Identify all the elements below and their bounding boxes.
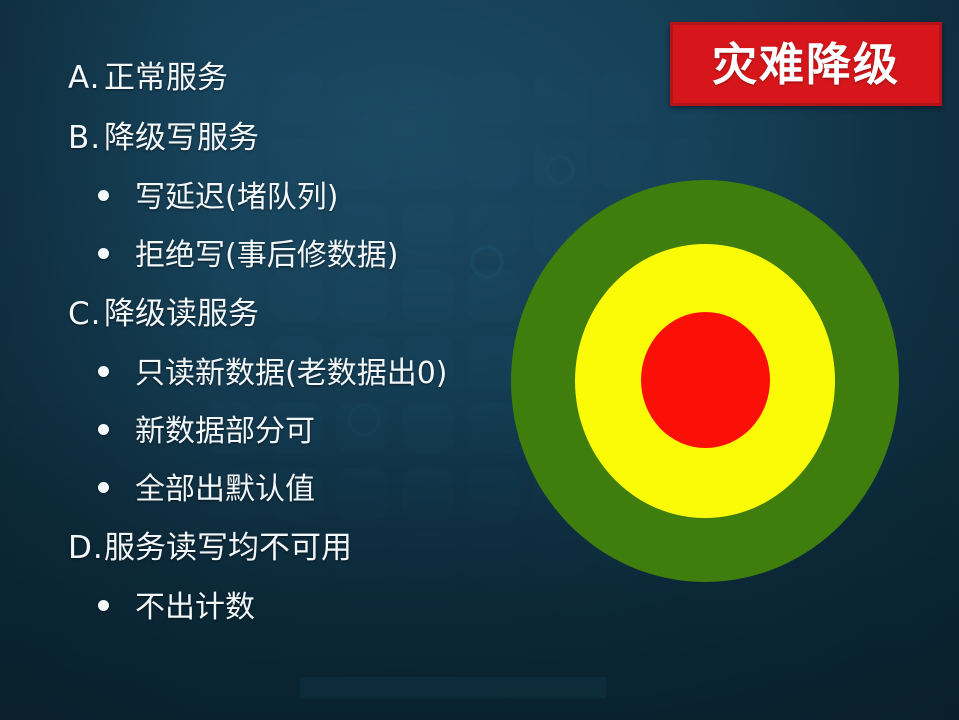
- bullet-dot-icon: [98, 248, 109, 259]
- footer-placeholder-box: [300, 677, 606, 698]
- outline-sub-item: 不出计数: [0, 582, 520, 640]
- outline-marker: C.: [68, 296, 104, 332]
- bullet-dot-icon: [98, 482, 109, 493]
- outline-sub-item: 新数据部分可: [0, 406, 520, 464]
- slide-canvas: 灾难降级 A.正常服务B.降级写服务写延迟(堵队列)拒绝写(事后修数据)C.降级…: [0, 0, 959, 720]
- bullet-dot-icon: [98, 179, 135, 215]
- outline-item-label: 正常服务: [104, 52, 228, 97]
- outline-sub-item: 只读新数据(老数据出0): [0, 348, 520, 406]
- bullet-dot-icon: [98, 424, 109, 435]
- bullet-dot-icon: [98, 237, 135, 273]
- outline-item: D.服务读写均不可用: [0, 522, 520, 582]
- outline-item-label: 新数据部分可: [135, 406, 315, 450]
- outline-marker: A.: [68, 60, 104, 96]
- outline-item-label: 全部出默认值: [135, 464, 315, 508]
- bullet-dot-icon: [98, 471, 135, 507]
- bullet-dot-icon: [98, 366, 109, 377]
- outline-sub-item: 写延迟(堵队列): [0, 172, 520, 230]
- outline-item-label: 只读新数据(老数据出0): [135, 348, 448, 392]
- outline-item-label: 降级写服务: [104, 112, 259, 157]
- ring-inner-red: [641, 312, 770, 448]
- outline-item: B.降级写服务: [0, 112, 520, 172]
- bullet-dot-icon: [98, 190, 109, 201]
- concentric-target-diagram: [511, 180, 899, 582]
- outline-sub-item: 拒绝写(事后修数据): [0, 230, 520, 288]
- title-banner: 灾难降级: [670, 22, 942, 106]
- outline-item-label: 写延迟(堵队列): [135, 172, 338, 216]
- page-title: 灾难降级: [712, 42, 900, 87]
- outline-item-label: 拒绝写(事后修数据): [135, 230, 398, 274]
- outline-marker: B.: [68, 120, 104, 156]
- bullet-dot-icon: [98, 413, 135, 449]
- outline-item-label: 不出计数: [135, 582, 255, 626]
- outline-item-label: 降级读服务: [104, 288, 259, 333]
- bullet-dot-icon: [98, 600, 109, 611]
- outline-list: A.正常服务B.降级写服务写延迟(堵队列)拒绝写(事后修数据)C.降级读服务只读…: [0, 52, 520, 640]
- outline-marker: D.: [68, 530, 104, 566]
- outline-item: A.正常服务: [0, 52, 520, 112]
- outline-item: C.降级读服务: [0, 288, 520, 348]
- outline-sub-item: 全部出默认值: [0, 464, 520, 522]
- bullet-dot-icon: [98, 589, 135, 625]
- outline-item-label: 服务读写均不可用: [104, 522, 352, 567]
- bullet-dot-icon: [98, 355, 135, 391]
